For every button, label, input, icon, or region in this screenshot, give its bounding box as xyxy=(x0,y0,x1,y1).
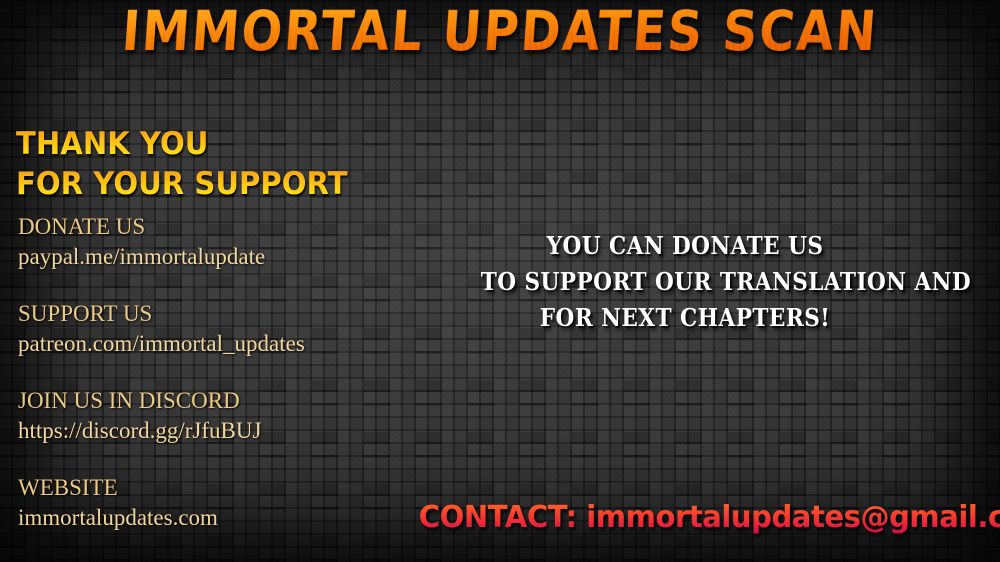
page-title: IMMORTAL UPDATES SCAN xyxy=(0,5,1000,60)
link-block-support: SUPPORT US patreon.com/immortal_updates xyxy=(18,299,438,359)
link-value-paypal[interactable]: paypal.me/immortalupdate xyxy=(18,242,438,272)
link-block-donate: DONATE US paypal.me/immortalupdate xyxy=(18,212,438,272)
link-label-donate: DONATE US xyxy=(18,212,438,242)
link-value-website[interactable]: immortalupdates.com xyxy=(18,503,438,533)
callout-line-3: FOR NEXT CHAPTERS! xyxy=(481,300,890,336)
link-block-website: WEBSITE immortalupdates.com xyxy=(18,473,438,533)
link-label-support: SUPPORT US xyxy=(18,299,438,329)
support-links-list: DONATE US paypal.me/immortalupdate SUPPO… xyxy=(18,212,438,533)
thank-you-line-1: THANK YOU xyxy=(16,124,347,164)
contact-line: CONTACT: immortalupdates@gmail.com xyxy=(419,498,982,538)
content-layer: IMMORTAL UPDATES SCAN THANK YOU FOR YOUR… xyxy=(0,0,1000,562)
link-label-website: WEBSITE xyxy=(18,473,438,503)
donation-callout: YOU CAN DONATE US TO SUPPORT OUR TRANSLA… xyxy=(481,228,890,336)
link-label-discord: JOIN US IN DISCORD xyxy=(18,386,438,416)
thank-you-line-2: FOR YOUR SUPPORT xyxy=(16,164,347,204)
credits-page: IMMORTAL UPDATES SCAN THANK YOU FOR YOUR… xyxy=(0,0,1000,562)
link-value-patreon[interactable]: patreon.com/immortal_updates xyxy=(18,329,438,359)
contact-email-text[interactable]: CONTACT: immortalupdates@gmail.com xyxy=(419,500,1000,535)
callout-line-2: TO SUPPORT OUR TRANSLATION AND xyxy=(481,264,890,300)
thank-you-headline: THANK YOU FOR YOUR SUPPORT xyxy=(16,124,347,204)
link-value-discord[interactable]: https://discord.gg/rJfuBUJ xyxy=(18,416,438,446)
callout-line-1: YOU CAN DONATE US xyxy=(481,228,890,264)
link-block-discord: JOIN US IN DISCORD https://discord.gg/rJ… xyxy=(18,386,438,446)
